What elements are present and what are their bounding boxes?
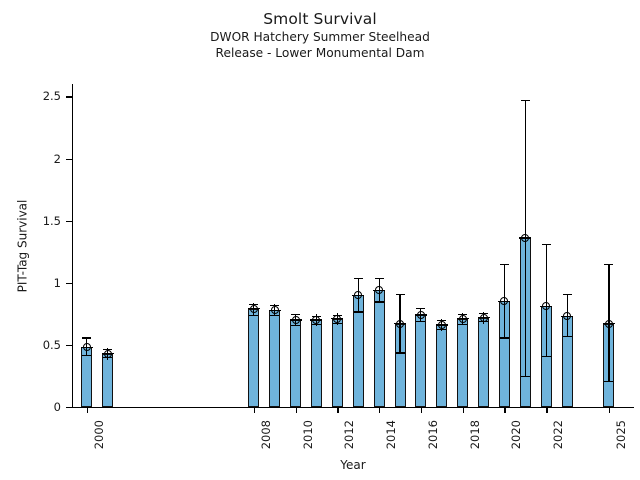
- data-point-marker: [83, 343, 91, 351]
- error-bar-cap-upper: [521, 100, 530, 101]
- x-axis-tick-label: 2018: [468, 420, 482, 449]
- x-axis-tick: [379, 407, 380, 413]
- x-axis-line: [72, 407, 634, 408]
- y-axis-label: PIT-Tag Survival: [14, 84, 30, 407]
- x-axis-tick: [609, 407, 610, 413]
- data-point-marker: [605, 320, 613, 328]
- data-point-marker: [292, 316, 300, 324]
- error-bar-cap-lower: [375, 301, 384, 302]
- y-axis-line: [72, 84, 73, 407]
- data-point-marker: [500, 297, 508, 305]
- x-axis-tick: [463, 407, 464, 413]
- data-point-marker: [375, 286, 383, 294]
- x-axis-tick-label: 2012: [342, 420, 356, 449]
- data-point-marker: [354, 291, 362, 299]
- bar: [457, 319, 468, 407]
- error-bar-cap-upper: [542, 244, 551, 245]
- page-title: Smolt Survival: [0, 10, 640, 29]
- y-axis-tick: [66, 221, 72, 222]
- bar: [248, 309, 259, 407]
- x-axis-tick-label: 2008: [259, 420, 273, 449]
- y-axis-tick: [66, 407, 72, 408]
- bar: [269, 310, 280, 407]
- data-point-marker: [396, 320, 404, 328]
- error-bar-cap-lower: [604, 381, 613, 382]
- x-axis-tick-label: 2000: [92, 420, 106, 449]
- data-point-marker: [271, 306, 279, 314]
- bar: [332, 319, 343, 407]
- y-axis-tick: [66, 283, 72, 284]
- data-point-marker: [438, 321, 446, 329]
- error-bar-cap-upper: [354, 278, 363, 279]
- x-axis-tick-label: 2025: [614, 420, 628, 449]
- chart-subtitle-2: Release - Lower Monumental Dam: [0, 45, 640, 61]
- data-point-marker: [563, 312, 571, 320]
- error-bar-cap-lower: [521, 376, 530, 377]
- x-axis-tick: [254, 407, 255, 413]
- bar: [436, 325, 447, 407]
- data-point-marker: [542, 302, 550, 310]
- error-bar-cap-lower: [82, 355, 91, 356]
- x-axis-tick-label: 2020: [509, 420, 523, 449]
- x-axis-tick-label: 2022: [551, 420, 565, 449]
- data-point-marker: [459, 315, 467, 323]
- error-bar-cap-lower: [354, 311, 363, 312]
- y-axis-tick: [66, 159, 72, 160]
- error-bar-cap-upper: [500, 264, 509, 265]
- bar: [290, 320, 301, 407]
- error-bar-cap-upper: [396, 294, 405, 295]
- bar: [311, 320, 322, 407]
- data-point-marker: [312, 316, 320, 324]
- error-bar-cap-lower: [563, 336, 572, 337]
- bar: [374, 290, 385, 407]
- x-axis-tick: [546, 407, 547, 413]
- bar: [478, 318, 489, 407]
- y-axis-tick: [66, 345, 72, 346]
- error-bar-cap-upper: [563, 294, 572, 295]
- x-axis-tick-label: 2010: [301, 420, 315, 449]
- data-point-marker: [521, 234, 529, 242]
- x-axis-tick: [296, 407, 297, 413]
- x-axis-tick: [337, 407, 338, 413]
- bar: [102, 354, 113, 407]
- smolt-survival-chart: Smolt Survival DWOR Hatchery Summer Stee…: [0, 0, 640, 480]
- error-bar-cap-lower: [396, 352, 405, 353]
- data-point-marker: [104, 350, 112, 358]
- chart-title-block: Smolt Survival DWOR Hatchery Summer Stee…: [0, 10, 640, 61]
- y-axis-tick: [66, 96, 72, 97]
- data-point-marker: [417, 311, 425, 319]
- x-axis-tick: [87, 407, 88, 413]
- x-axis-tick-label: 2014: [384, 420, 398, 449]
- bar: [81, 347, 92, 407]
- error-bar-cap-lower: [500, 337, 509, 338]
- x-axis-label: Year: [72, 458, 634, 472]
- data-point-marker: [250, 305, 258, 313]
- error-bar-cap-upper: [604, 264, 613, 265]
- error-bar-cap-lower: [542, 356, 551, 357]
- chart-subtitle-1: DWOR Hatchery Summer Steelhead: [0, 29, 640, 45]
- x-axis-tick: [421, 407, 422, 413]
- error-bar-cap-upper: [82, 337, 91, 338]
- plot-area: 00.511.522.52000200820102012201420162018…: [72, 84, 634, 407]
- x-axis-tick: [504, 407, 505, 413]
- error-bar-cap-upper: [375, 278, 384, 279]
- y-axis-label-text: PIT-Tag Survival: [15, 199, 29, 292]
- data-point-marker: [333, 315, 341, 323]
- error-bar-cap-lower: [249, 315, 258, 316]
- x-axis-tick-label: 2016: [426, 420, 440, 449]
- bar: [415, 315, 426, 407]
- data-point-marker: [480, 314, 488, 322]
- error-bar-cap-lower: [416, 321, 425, 322]
